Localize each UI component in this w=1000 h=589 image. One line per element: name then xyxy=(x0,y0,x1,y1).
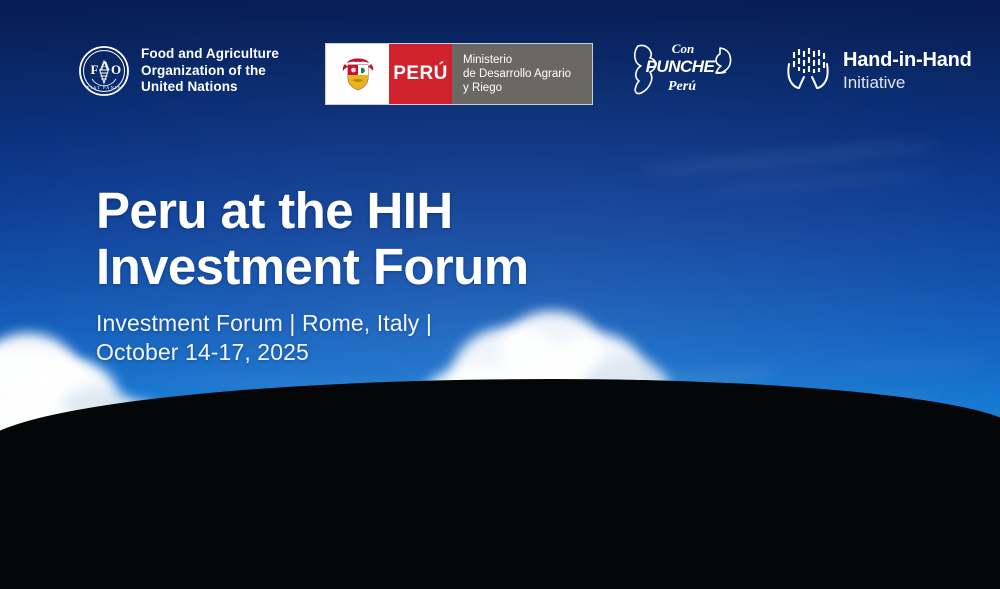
fao-emblem-icon: F A O FIAT PANIS xyxy=(78,45,130,97)
fao-logo: F A O FIAT PANIS Food and Agriculture Or… xyxy=(78,45,279,97)
fao-logo-text: Food and Agriculture Organization of the… xyxy=(141,46,279,96)
svg-text:Con: Con xyxy=(672,41,694,56)
svg-text:FIAT PANIS: FIAT PANIS xyxy=(87,85,122,90)
svg-text:Perú: Perú xyxy=(668,79,696,94)
hillside-silhouette-left xyxy=(0,439,580,589)
svg-text:F: F xyxy=(91,62,99,77)
peru-country-label: PERÚ xyxy=(389,44,452,104)
headline-block: Peru at the HIH Investment Forum Investm… xyxy=(96,183,696,367)
con-punche-peru-icon: Con PUNCHE Perú xyxy=(628,36,740,102)
peru-coat-of-arms-icon xyxy=(326,44,389,104)
hand-in-hand-subtitle: Initiative xyxy=(843,74,972,91)
ministry-text: Ministerio de Desarrollo Agrario y Riego xyxy=(463,53,571,95)
event-banner: F A O FIAT PANIS Food and Agriculture Or… xyxy=(0,0,1000,589)
svg-text:O: O xyxy=(111,62,121,77)
event-subtitle: Investment Forum | Rome, Italy | October… xyxy=(96,309,696,367)
peru-country-text: PERÚ xyxy=(393,63,447,85)
svg-text:PUNCHE: PUNCHE xyxy=(646,57,716,76)
hand-in-hand-text: Hand-in-Hand Initiative xyxy=(843,50,972,91)
page-title: Peru at the HIH Investment Forum xyxy=(96,183,696,295)
con-punche-peru-logo: Con PUNCHE Perú xyxy=(628,36,740,102)
minagri-logo: PERÚ Ministerio de Desarrollo Agrario y … xyxy=(325,43,593,105)
hand-in-hand-hands-icon xyxy=(785,44,831,97)
hand-in-hand-logo: Hand-in-Hand Initiative xyxy=(785,44,972,97)
hand-in-hand-title: Hand-in-Hand xyxy=(843,50,972,70)
ministry-label: Ministerio de Desarrollo Agrario y Riego xyxy=(452,44,592,104)
logo-bar: F A O FIAT PANIS Food and Agriculture Or… xyxy=(0,0,1000,130)
